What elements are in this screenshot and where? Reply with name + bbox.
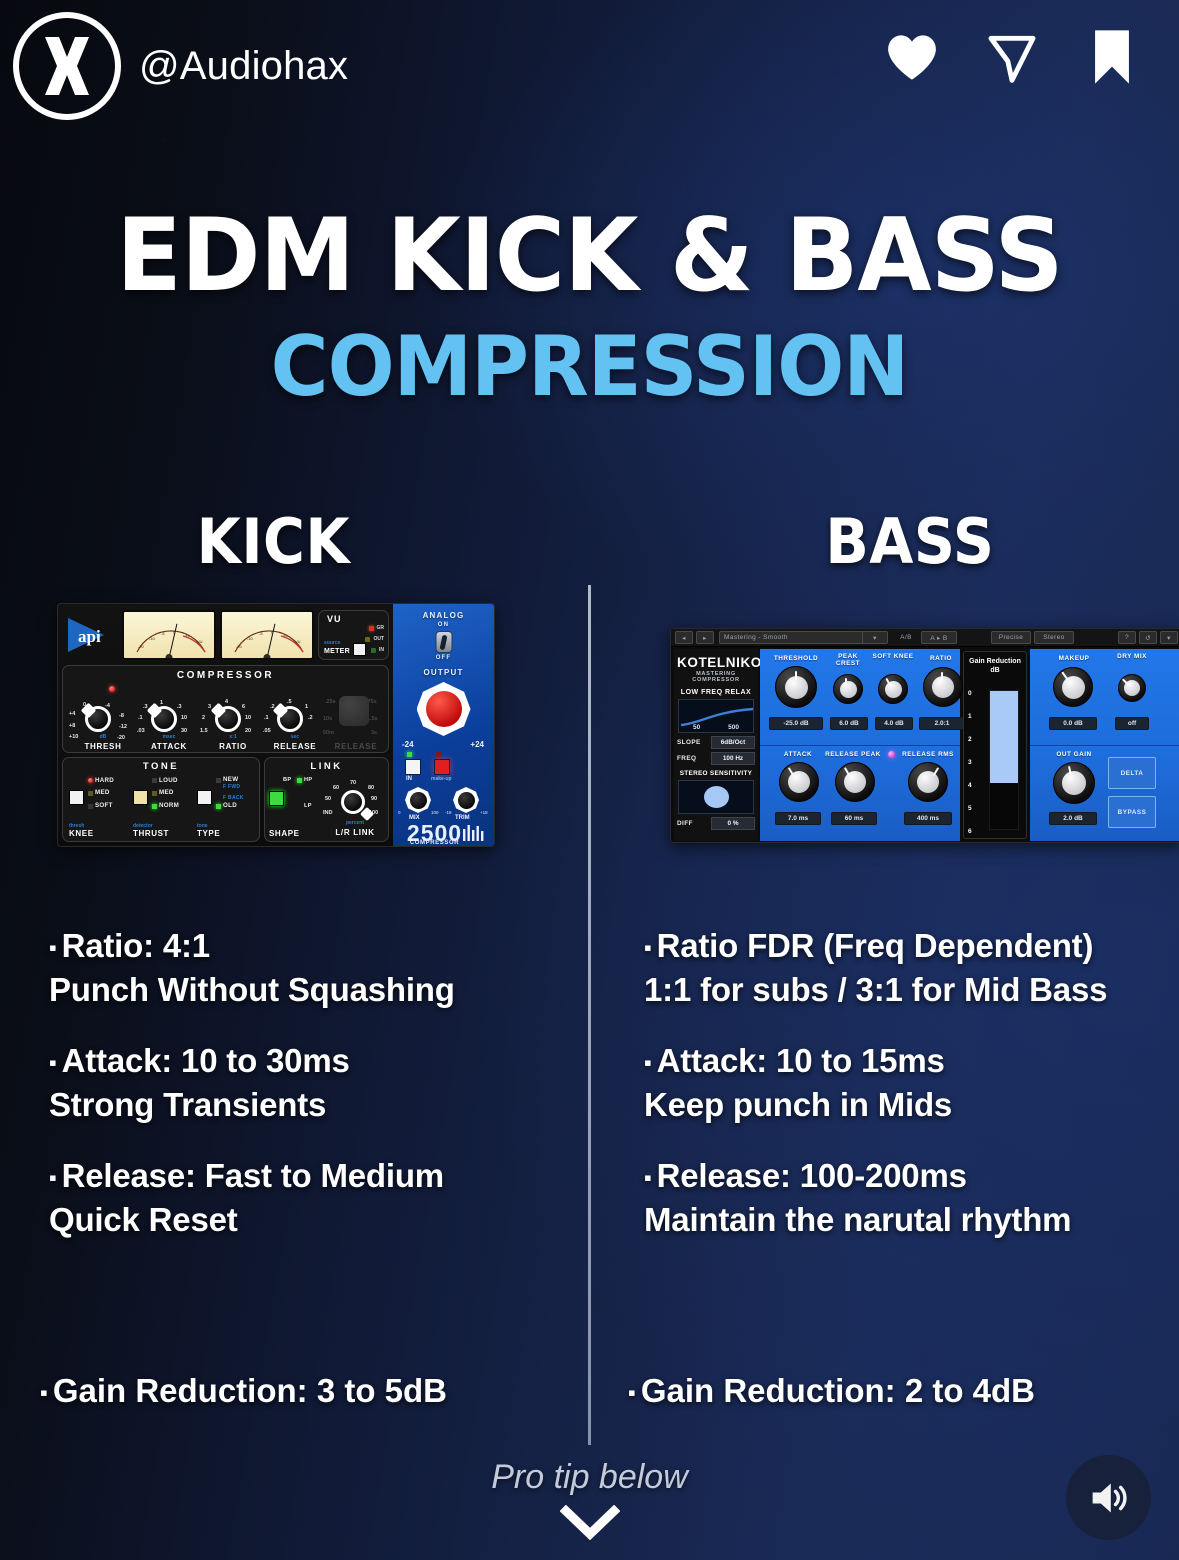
- analog-label: ANALOG: [393, 611, 494, 620]
- link-section-title: LINK: [265, 761, 388, 772]
- vu-meter-label: METER: [324, 648, 350, 655]
- vu-meter-right: -20-10-5 0+3VU: [220, 610, 314, 660]
- svg-text:-20: -20: [236, 644, 243, 649]
- link-section: LINK BP HP LP SHAPE 70 6080 5090 IND100 …: [264, 757, 389, 842]
- bass-item-1-sub: Keep punch in Mids: [644, 1082, 1179, 1128]
- makeup-button[interactable]: [434, 759, 450, 775]
- api-brand-logo-icon: api: [64, 610, 119, 660]
- stereo-mode-button[interactable]: Stereo: [1034, 631, 1074, 644]
- output-min-label: -24: [402, 740, 414, 749]
- release-extra-label: RELEASE: [321, 742, 391, 751]
- bullet-icon: ▪: [644, 935, 652, 960]
- svg-text:VU: VU: [295, 639, 301, 644]
- type-switch-group[interactable]: NEW F FWD OLD F BACK tone TYPE: [197, 778, 259, 840]
- out-gain-value[interactable]: 2.0 dB: [1049, 812, 1097, 825]
- svg-text:api: api: [78, 627, 101, 646]
- plugin-subtitle: MASTERING COMPRESSOR: [677, 671, 755, 683]
- bass-item-0: ▪Ratio FDR (Freq Dependent) 1:1 for subs…: [644, 925, 1179, 1013]
- bass-bullet-list: ▪Ratio FDR (Freq Dependent) 1:1 for subs…: [644, 925, 1179, 1269]
- gr-tick-5: 5: [968, 805, 972, 812]
- release-mode-led[interactable]: [888, 751, 895, 758]
- in-button[interactable]: [405, 759, 421, 775]
- ratio-knob[interactable]: 436 210 1.520 x:1 RATIO: [199, 690, 267, 752]
- column-heading-bass: BASS: [825, 505, 994, 578]
- trim-min-label: -18: [445, 810, 452, 815]
- output-knob[interactable]: [417, 682, 471, 736]
- bass-item-2: ▪Release: 100-200ms Maintain the narutal…: [644, 1155, 1179, 1243]
- account-brand[interactable]: @Audiohax: [13, 12, 348, 120]
- ratio-label: RATIO: [199, 742, 267, 751]
- makeup-knob-kot[interactable]: [1053, 667, 1093, 707]
- knee-option-med[interactable]: MED: [95, 789, 110, 796]
- bass-item-0-sub: 1:1 for subs / 3:1 for Mid Bass: [644, 967, 1179, 1013]
- output-label: OUTPUT: [393, 668, 494, 677]
- kotelnikov-toolbar: ◂ ▸ Mastering - Smooth ▾ A/B A ▸ B Preci…: [671, 629, 1179, 647]
- gr-tick-0: 0: [968, 690, 972, 697]
- thrust-switch-group[interactable]: LOUD MED NORM detector THRUST: [133, 778, 195, 840]
- knee-label: KNEE: [69, 829, 94, 838]
- attack-knob-kot[interactable]: [779, 762, 819, 802]
- dry-mix-label: DRY MIX: [1111, 653, 1153, 660]
- post-header: @Audiohax: [0, 0, 1179, 140]
- audiohax-hourglass-logo-icon[interactable]: [13, 12, 121, 120]
- kick-bullet-list: ▪Ratio: 4:1 Punch Without Squashing ▪Att…: [49, 925, 594, 1269]
- out-gain-knob[interactable]: [1053, 762, 1095, 804]
- vu-led-in: IN: [379, 647, 384, 653]
- undo-button[interactable]: ↺: [1139, 631, 1157, 644]
- peak-crest-value[interactable]: 6.0 dB: [830, 717, 868, 730]
- mix-knob[interactable]: [405, 787, 431, 813]
- type-option-old[interactable]: OLD: [223, 802, 237, 809]
- vu-source-label: source: [324, 640, 340, 646]
- column-heading-kick: KICK: [197, 505, 350, 578]
- makeup-label: make-up: [431, 776, 452, 782]
- release-peak-knob[interactable]: [835, 762, 875, 802]
- bullet-icon: ▪: [49, 935, 57, 960]
- release-rms-knob[interactable]: [908, 762, 948, 802]
- bass-item-2-sub: Maintain the narutal rhythm: [644, 1197, 1179, 1243]
- attack-unit: msec: [135, 734, 203, 740]
- knee-option-hard[interactable]: HARD: [95, 777, 114, 784]
- kick-item-0-head: Ratio: 4:1: [62, 927, 210, 964]
- heart-icon[interactable]: [883, 26, 941, 88]
- chevron-down-icon[interactable]: [560, 1505, 620, 1546]
- shape-switch-group[interactable]: BP HP LP SHAPE: [269, 778, 331, 840]
- kick-item-2-sub: Quick Reset: [49, 1197, 594, 1243]
- bass-gain-reduction-line: ▪Gain Reduction: 2 to 4dB: [628, 1372, 1035, 1410]
- peak-crest-knob[interactable]: [833, 674, 863, 704]
- ratio-unit: x:1: [199, 734, 267, 740]
- release-unit: sec: [261, 734, 329, 740]
- slope-label: SLOPE: [677, 739, 711, 746]
- gain-reduction-bar-fill: [990, 691, 1018, 783]
- bass-item-1-head: Attack: 10 to 15ms: [657, 1042, 945, 1079]
- low-freq-curve-display[interactable]: 50 500: [678, 699, 754, 733]
- svg-text:VU: VU: [197, 639, 203, 644]
- vu-led-out: OUT: [373, 636, 384, 642]
- svg-text:+3: +3: [283, 633, 288, 638]
- kotelnikov-outgain-section: [1030, 745, 1179, 841]
- precise-mode-button[interactable]: Precise: [991, 631, 1031, 644]
- slope-value[interactable]: 6dB/Oct: [711, 736, 755, 749]
- in-label: IN: [406, 776, 412, 782]
- peak-crest-label: PEAK CREST: [826, 653, 870, 667]
- release-label: RELEASE: [261, 742, 329, 751]
- soft-knee-label: SOFT KNEE: [872, 653, 914, 660]
- shape-option-bp[interactable]: BP: [283, 777, 291, 783]
- kick-item-2-head: Release: Fast to Medium: [62, 1157, 444, 1194]
- attack-knob[interactable]: 1.3.3 .110 .0330 msec ATTACK: [135, 690, 203, 752]
- dry-mix-knob[interactable]: [1118, 674, 1146, 702]
- release-knob[interactable]: .5.21 .1.2 .05 sec RELEASE: [261, 690, 329, 752]
- kick-item-2: ▪Release: Fast to Medium Quick Reset: [49, 1155, 594, 1243]
- post-actions: [883, 26, 1141, 88]
- low-freq-relax-label: LOW FREQ RELAX: [677, 689, 755, 696]
- freq-value[interactable]: 100 Hz: [711, 752, 755, 765]
- thrust-label: THRUST: [133, 829, 169, 838]
- mix-min-label: 0: [398, 810, 401, 815]
- ab-toggle-button[interactable]: A/B: [893, 631, 919, 644]
- api-output-panel: ANALOG ON OFF OUTPUT -24 +24 IN make-up …: [393, 604, 494, 847]
- release-rms-value[interactable]: 400 ms: [904, 812, 952, 825]
- kick-item-1-head: Attack: 10 to 30ms: [62, 1042, 350, 1079]
- diff-value[interactable]: 0 %: [711, 817, 755, 830]
- bullet-icon: ▪: [628, 1380, 636, 1405]
- thrust-option-med[interactable]: MED: [159, 789, 174, 796]
- thrust-option-norm[interactable]: NORM: [159, 802, 179, 809]
- bass-item-0-head: Ratio FDR (Freq Dependent): [657, 927, 1094, 964]
- curve-tick-500: 500: [728, 724, 739, 731]
- soft-knee-value[interactable]: 4.0 dB: [875, 717, 913, 730]
- bullet-icon: ▪: [49, 1050, 57, 1075]
- bypass-button[interactable]: BYPASS: [1108, 796, 1156, 828]
- gr-tick-3: 3: [968, 759, 972, 766]
- kick-gain-reduction-line: ▪Gain Reduction: 3 to 5dB: [40, 1372, 447, 1410]
- vu-meter-left: -20-10-5 0+3VU: [122, 610, 216, 660]
- speaker-on-icon[interactable]: [1066, 1455, 1151, 1540]
- gr-tick-6: 6: [968, 828, 972, 835]
- out-gain-label: OUT GAIN: [1047, 751, 1101, 758]
- diff-label: DIFF: [677, 820, 711, 827]
- page-title: EDM KICK & BASS: [29, 196, 1149, 314]
- thresh-label: THRESH: [69, 742, 137, 751]
- tone-section-title: TONE: [63, 761, 259, 772]
- preset-name-field[interactable]: Mastering - Smooth: [719, 631, 879, 644]
- a-to-b-button[interactable]: A ▸ B: [921, 631, 957, 644]
- release-extra-knob-disabled: .25s.75s 10s1.5s 50m3s RELEASE: [321, 690, 391, 752]
- release-rms-label: RELEASE RMS: [897, 751, 959, 758]
- gain-reduction-bar-track: [989, 690, 1019, 830]
- vu-led-gr: GR: [377, 625, 385, 631]
- attack-label-kot: ATTACK: [775, 751, 821, 758]
- gr-tick-4: 4: [968, 782, 972, 789]
- attack-label: ATTACK: [135, 742, 203, 751]
- pro-tip-text: Pro tip below: [0, 1458, 1179, 1497]
- freq-label: FREQ: [677, 755, 711, 762]
- knee-option-soft[interactable]: SOFT: [95, 802, 113, 809]
- gain-reduction-scale: 0 1 2 3 4 5 6: [968, 690, 984, 830]
- kick-item-0: ▪Ratio: 4:1 Punch Without Squashing: [49, 925, 594, 1013]
- makeup-led: [436, 752, 441, 757]
- type-label: TYPE: [197, 829, 220, 838]
- stereo-sensitivity-display[interactable]: [678, 780, 754, 814]
- thresh-knob[interactable]: 0-4 +4-8 +8-12 +10-20 dB THRESH: [69, 690, 137, 752]
- threshold-knob[interactable]: [775, 666, 817, 708]
- account-handle: @Audiohax: [139, 44, 348, 89]
- shape-option-lp[interactable]: LP: [304, 803, 312, 809]
- knee-switch-group[interactable]: HARD MED SOFT thresh KNEE: [69, 778, 131, 840]
- plugin-name: KOTELNIKOV: [677, 655, 755, 670]
- slope-row[interactable]: SLOPE 6dB/Oct: [677, 736, 755, 749]
- shape-label: SHAPE: [269, 829, 300, 838]
- makeup-label-kot: MAKEUP: [1047, 655, 1101, 662]
- freq-row[interactable]: FREQ 100 Hz: [677, 752, 755, 765]
- api-2500-plugin-image: api -20-10-5 0+3VU: [57, 603, 495, 847]
- ratio-knob-kot[interactable]: [923, 667, 963, 707]
- thresh-unit: dB: [69, 734, 137, 740]
- analog-off-label: OFF: [393, 655, 494, 661]
- mix-max-label: 100: [431, 810, 439, 815]
- bullet-icon: ▪: [644, 1165, 652, 1190]
- ratio-value-kot[interactable]: 2.0:1: [919, 717, 965, 730]
- ratio-label-kot: RATIO: [919, 655, 963, 662]
- waves-logo-icon: [462, 824, 488, 842]
- kick-item-0-sub: Punch Without Squashing: [49, 967, 594, 1013]
- bass-gain-reduction-text: Gain Reduction: 2 to 4dB: [641, 1372, 1035, 1409]
- in-led: [407, 752, 412, 757]
- delta-button[interactable]: DELTA: [1108, 757, 1156, 789]
- paper-plane-icon[interactable]: [983, 26, 1041, 88]
- kotelnikov-sidebar: KOTELNIKOV MASTERING COMPRESSOR LOW FREQ…: [674, 649, 758, 841]
- gain-reduction-title: Gain Reduction dB: [964, 658, 1026, 676]
- svg-text:+3: +3: [185, 633, 190, 638]
- preset-dropdown-button[interactable]: ▾: [862, 631, 888, 644]
- tone-section: TONE HARD MED SOFT thresh KNEE LOUD M: [62, 757, 260, 842]
- kick-gain-reduction-text: Gain Reduction: 3 to 5dB: [53, 1372, 447, 1409]
- type-option-new[interactable]: NEW: [223, 776, 238, 783]
- dmg-kotelnikov-plugin-image: ◂ ▸ Mastering - Smooth ▾ A/B A ▸ B Preci…: [670, 628, 1179, 843]
- trim-knob[interactable]: [453, 787, 479, 813]
- vu-section: VU GR OUT IN source METER: [318, 610, 389, 660]
- makeup-value-kot[interactable]: 0.0 dB: [1049, 717, 1097, 730]
- analog-toggle-switch[interactable]: [435, 631, 452, 653]
- trim-max-label: +18: [480, 810, 488, 815]
- diff-row[interactable]: DIFF 0 %: [677, 817, 755, 830]
- release-peak-label: RELEASE PEAK: [821, 751, 885, 758]
- post-canvas: @Audiohax EDM KICK & BASS COMPRESSION KI…: [0, 0, 1179, 1560]
- bullet-icon: ▪: [49, 1165, 57, 1190]
- svg-text:-10: -10: [149, 636, 156, 641]
- compressor-section-title: COMPRESSOR: [63, 670, 388, 681]
- bookmark-icon[interactable]: [1083, 26, 1141, 88]
- vu-meter-button[interactable]: [353, 643, 366, 656]
- gain-reduction-meter: Gain Reduction dB 0 1 2 3 4 5 6: [963, 651, 1027, 839]
- bullet-icon: ▪: [40, 1380, 48, 1405]
- curve-tick-50: 50: [693, 724, 700, 731]
- threshold-value[interactable]: -25.0 dB: [769, 717, 823, 730]
- page-subtitle: COMPRESSION: [29, 318, 1149, 415]
- type-option-ffwd: F FWD: [223, 784, 240, 790]
- compressor-section: COMPRESSOR 0-4 +4-8 +8-12 +10-20 dB THRE…: [62, 665, 389, 753]
- dry-mix-value[interactable]: off: [1115, 717, 1149, 730]
- prev-preset-button[interactable]: ◂: [675, 631, 693, 644]
- output-max-label: +24: [470, 740, 484, 749]
- svg-text:-20: -20: [138, 644, 145, 649]
- kick-item-1-sub: Strong Transients: [49, 1082, 594, 1128]
- threshold-label: THRESHOLD: [766, 655, 826, 662]
- svg-text:-10: -10: [247, 636, 254, 641]
- menu-button[interactable]: ▾: [1160, 631, 1178, 644]
- thrust-option-loud[interactable]: LOUD: [159, 777, 178, 784]
- gr-tick-2: 2: [968, 736, 972, 743]
- vu-section-title: VU: [327, 614, 342, 624]
- help-button[interactable]: ?: [1118, 631, 1136, 644]
- type-option-fback: F BACK: [223, 795, 244, 801]
- bullet-icon: ▪: [644, 1050, 652, 1075]
- bass-item-2-head: Release: 100-200ms: [657, 1157, 967, 1194]
- gr-tick-1: 1: [968, 713, 972, 720]
- analog-on-label: ON: [393, 622, 494, 628]
- kick-item-1: ▪Attack: 10 to 30ms Strong Transients: [49, 1040, 594, 1128]
- stereo-sensitivity-label: STEREO SENSITIVITY: [677, 770, 755, 777]
- release-peak-value[interactable]: 60 ms: [831, 812, 877, 825]
- soft-knee-knob[interactable]: [878, 674, 908, 704]
- shape-option-hp[interactable]: HP: [304, 777, 312, 783]
- bass-item-1: ▪Attack: 10 to 15ms Keep punch in Mids: [644, 1040, 1179, 1128]
- next-preset-button[interactable]: ▸: [696, 631, 714, 644]
- attack-value-kot[interactable]: 7.0 ms: [775, 812, 821, 825]
